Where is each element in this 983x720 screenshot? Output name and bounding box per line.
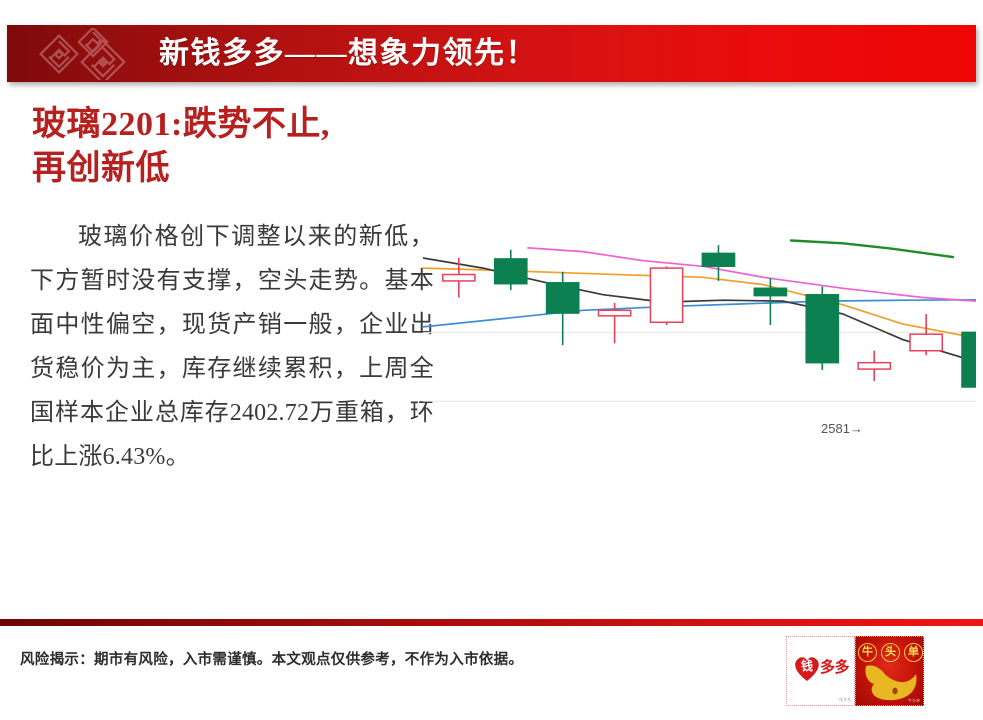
body-paragraph: 玻璃价格创下调整以来的新低，下方暂时没有支撑，空头走势。基本面中性偏空，现货产销… xyxy=(30,215,434,479)
niutoudan-logo: 牛 头 单 牛头单 xyxy=(855,636,924,706)
niutoudan-micro-text: 牛头单 xyxy=(908,698,920,704)
candle-body xyxy=(599,310,631,316)
candlestick xyxy=(495,250,527,290)
niutoudan-char-1: 牛 xyxy=(858,643,877,662)
candlestick xyxy=(858,351,890,381)
page-title: 玻璃2201:跌势不止, 再创新低 xyxy=(32,103,432,191)
candle-body xyxy=(495,259,527,284)
candle-body xyxy=(547,283,579,313)
bull-head-icon xyxy=(862,662,920,702)
niutoudan-char-3: 单 xyxy=(904,643,923,662)
niutoudan-char-2: 头 xyxy=(881,643,900,662)
diamond-knot-pattern-icon xyxy=(31,28,135,80)
candlestick xyxy=(702,245,734,281)
qianduoduo-text: 多多 xyxy=(820,661,849,676)
candlestick xyxy=(962,331,976,391)
risk-disclaimer: 风险揭示：期市有风险，入市需谨慎。本文观点仅供参考，不作为入市依据。 xyxy=(20,648,523,669)
candlestick xyxy=(547,272,579,345)
header-banner: 新钱多多——想象力领先！ xyxy=(7,25,976,82)
candle-body xyxy=(858,363,890,369)
candle-body xyxy=(962,332,976,387)
niutoudan-char-row: 牛 头 单 xyxy=(856,643,924,662)
footer-logo-group: 钱 多多 钱多多 牛 头 单 牛头单 xyxy=(786,636,924,706)
page-title-line-1: 玻璃2201:跌势不止, xyxy=(32,103,432,147)
candlestick xyxy=(650,266,682,325)
candlestick xyxy=(910,314,942,355)
candle-body xyxy=(650,268,682,322)
ma-line-ma-blue xyxy=(423,300,976,327)
ma-line-ma-green xyxy=(791,241,953,258)
footer-divider xyxy=(0,619,983,626)
candle-body xyxy=(443,275,475,281)
candlestick-chart-svg xyxy=(423,205,976,455)
header-title: 新钱多多——想象力领先！ xyxy=(159,32,537,76)
qianduoduo-heart-char: 钱 xyxy=(798,660,816,672)
page-title-line-2: 再创新低 xyxy=(32,147,432,191)
candlestick xyxy=(443,258,475,297)
candlestick-chart: 2581→ xyxy=(423,205,976,455)
candle-body xyxy=(754,288,786,295)
candle-body xyxy=(702,253,734,266)
last-price-label: 2581→ xyxy=(821,421,863,436)
qianduoduo-logo: 钱 多多 钱多多 xyxy=(786,636,855,706)
candlestick xyxy=(806,286,838,370)
qianduoduo-micro-text: 钱多多 xyxy=(839,697,851,703)
candle-body xyxy=(910,334,942,351)
candle-body xyxy=(806,295,838,363)
